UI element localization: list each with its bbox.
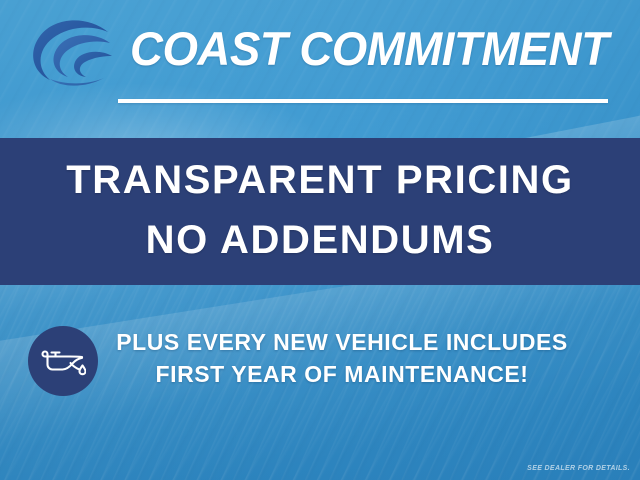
bonus-line-maintenance: FIRST YEAR OF MAINTENANCE! [112,358,572,390]
promo-line-no-addendums: NO ADDENDUMS [0,210,640,270]
banner-header: COAST COMMITMENT [0,0,640,138]
disclaimer-text: SEE DEALER FOR DETAILS. [527,465,630,472]
page-title: COAST COMMITMENT [130,23,601,75]
promo-band: TRANSPARENT PRICING NO ADDENDUMS [0,138,640,285]
bonus-line-includes: PLUS EVERY NEW VEHICLE INCLUDES [112,326,572,358]
coast-wave-swirl-icon [24,16,116,90]
bonus-text-block: PLUS EVERY NEW VEHICLE INCLUDES FIRST YE… [112,326,572,390]
bonus-offer-row: PLUS EVERY NEW VEHICLE INCLUDES FIRST YE… [0,322,640,406]
oil-can-drip-icon [28,326,98,396]
header-divider [118,99,608,103]
promo-line-transparent-pricing: TRANSPARENT PRICING [0,150,640,210]
coast-commitment-banner: COAST COMMITMENT TRANSPARENT PRICING NO … [0,0,640,480]
